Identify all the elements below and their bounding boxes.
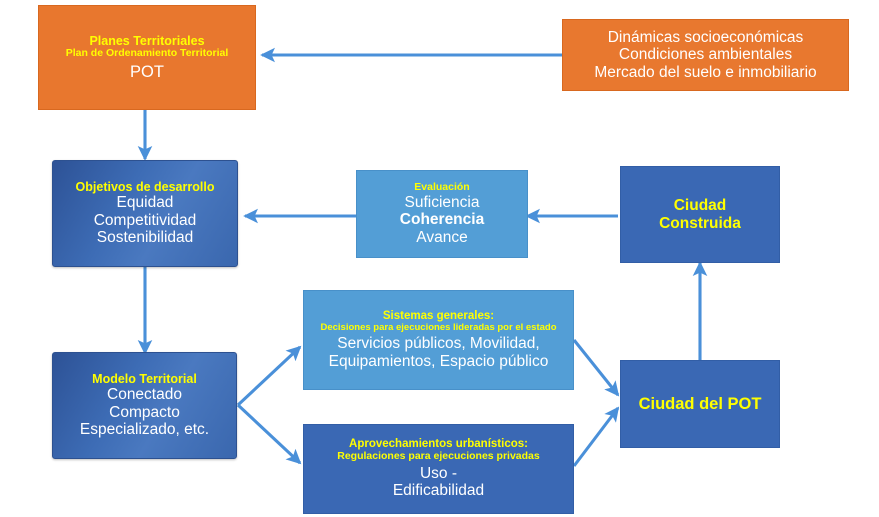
node-modelo-territorial[interactable]: Modelo Territorial Conectado Compacto Es… — [52, 352, 237, 459]
sistemas-line-1: Servicios públicos, Movilidad, — [337, 335, 539, 352]
aprovechamientos-line-1: Uso - — [420, 465, 457, 482]
diagram-canvas: Planes Territoriales Plan de Ordenamient… — [0, 0, 879, 517]
modelo-heading: Modelo Territorial — [92, 372, 197, 386]
arrow-modelo-to-aprovechamientos — [238, 405, 300, 463]
dinamicas-line-2: Condiciones ambientales — [619, 46, 792, 63]
objetivos-line-2: Competitividad — [94, 212, 197, 229]
evaluacion-line-2: Coherencia — [400, 211, 484, 228]
aprovechamientos-line-2: Edificabilidad — [393, 482, 484, 499]
sistemas-line-2: Equipamientos, Espacio público — [329, 353, 549, 370]
node-ciudad-del-pot[interactable]: Ciudad del POT — [620, 360, 780, 448]
modelo-line-1: Conectado — [107, 386, 182, 403]
aprovechamientos-subheading: Regulaciones para ejecuciones privadas — [337, 451, 540, 463]
node-ciudad-construida[interactable]: Ciudad Construida — [620, 166, 780, 263]
node-sistemas-generales[interactable]: Sistemas generales: Decisiones para ejec… — [303, 290, 574, 390]
sistemas-subheading: Decisiones para ejecuciones lideradas po… — [320, 323, 556, 334]
planes-subheading: Plan de Ordenamiento Territorial — [66, 48, 229, 60]
sistemas-heading: Sistemas generales: — [383, 310, 494, 323]
arrow-modelo-to-sistemas — [238, 347, 300, 405]
evaluacion-line-1: Suficiencia — [405, 194, 480, 211]
arrow-aprovechamientos-to-ciudadpot — [574, 408, 618, 466]
objetivos-line-3: Sostenibilidad — [97, 229, 194, 246]
dinamicas-line-1: Dinámicas socioeconómicas — [608, 29, 804, 46]
dinamicas-line-3: Mercado del suelo e inmobiliario — [594, 64, 816, 81]
node-dinamicas-socioeconomicas[interactable]: Dinámicas socioeconómicas Condiciones am… — [562, 19, 849, 91]
modelo-line-2: Compacto — [109, 404, 180, 421]
evaluacion-line-3: Avance — [416, 229, 467, 246]
evaluacion-heading: Evaluación — [414, 182, 469, 194]
modelo-line-3: Especializado, etc. — [80, 421, 209, 438]
planes-body: POT — [130, 63, 164, 81]
ciudad-construida-line-1: Ciudad — [674, 197, 727, 214]
node-planes-territoriales[interactable]: Planes Territoriales Plan de Ordenamient… — [38, 5, 256, 110]
ciudad-construida-line-2: Construida — [659, 215, 741, 232]
node-objetivos-desarrollo[interactable]: Objetivos de desarrollo Equidad Competit… — [52, 160, 238, 267]
node-aprovechamientos-urbanisticos[interactable]: Aprovechamientos urbanísticos: Regulacio… — [303, 424, 574, 514]
objetivos-line-1: Equidad — [117, 194, 174, 211]
arrow-sistemas-to-ciudadpot — [574, 340, 618, 395]
node-evaluacion[interactable]: Evaluación Suficiencia Coherencia Avance — [356, 170, 528, 258]
ciudad-del-pot-label: Ciudad del POT — [639, 395, 762, 413]
planes-heading: Planes Territoriales — [89, 34, 204, 48]
objetivos-heading: Objetivos de desarrollo — [76, 180, 215, 194]
